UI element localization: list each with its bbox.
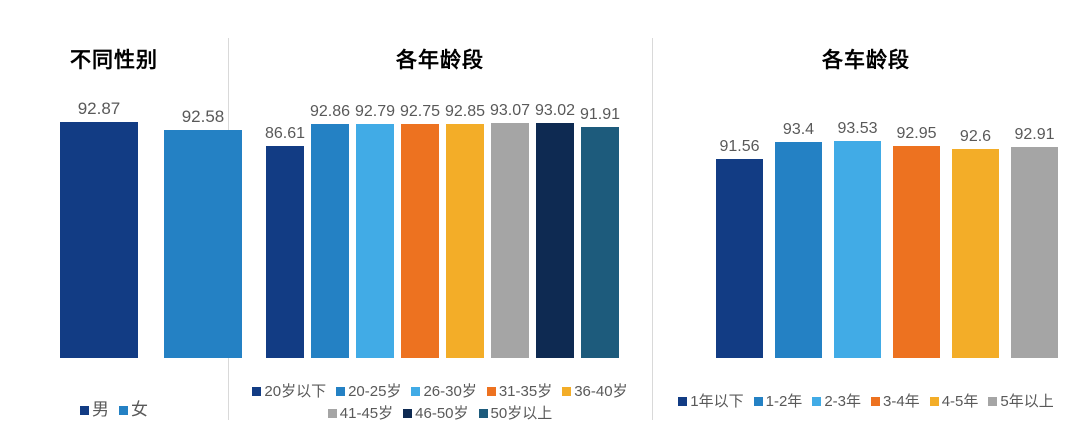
legend-item-age-4[interactable]: 36-40岁 (562, 381, 627, 402)
legend-swatch-icon (252, 387, 261, 396)
bar-age-4[interactable] (446, 124, 484, 358)
legend-label: 1-2年 (766, 391, 803, 412)
legend-item-carage-3[interactable]: 3-4年 (871, 391, 920, 412)
legend-label: 5年以上 (1000, 391, 1053, 412)
bar-carage-5[interactable] (1011, 147, 1058, 358)
legend-carage: 1年以下1-2年2-3年3-4年4-5年5年以上 (652, 390, 1080, 412)
bar-age-0[interactable] (266, 146, 304, 358)
legend-label: 31-35岁 (499, 381, 552, 402)
legend-label: 2-3年 (824, 391, 861, 412)
bar-gender-0[interactable] (60, 122, 138, 358)
legend-item-age-3[interactable]: 31-35岁 (487, 381, 552, 402)
bar-value-label-age-7: 91.91 (571, 106, 629, 124)
legend-swatch-icon (871, 397, 880, 406)
legend-label: 女 (131, 399, 148, 420)
bar-value-label-age-0: 86.61 (256, 125, 314, 143)
legend-label: 3-4年 (883, 391, 920, 412)
bar-value-label-carage-4: 92.6 (942, 128, 1009, 146)
bar-age-5[interactable] (491, 123, 529, 358)
plot-area-age: 86.6192.8692.7992.7592.8593.0793.0291.91 (228, 0, 652, 434)
bar-value-label-carage-0: 91.56 (706, 138, 773, 156)
chart-panel-gender: 不同性别 92.8792.58 男女 (0, 0, 228, 434)
chart-panel-age: 各年龄段 86.6192.8692.7992.7592.8593.0793.02… (228, 0, 652, 434)
legend-item-carage-5[interactable]: 5年以上 (988, 391, 1053, 412)
legend-item-carage-0[interactable]: 1年以下 (678, 391, 743, 412)
legend-swatch-icon (930, 397, 939, 406)
bar-age-3[interactable] (401, 124, 439, 358)
legend-item-carage-1[interactable]: 1-2年 (754, 391, 803, 412)
legend-swatch-icon (479, 409, 488, 418)
plot-area-carage: 91.5693.493.5392.9592.692.91 (652, 0, 1080, 434)
chart-panel-carage: 各车龄段 91.5693.493.5392.9592.692.91 1年以下1-… (652, 0, 1080, 434)
legend-item-gender-1[interactable]: 女 (119, 399, 148, 420)
legend-swatch-icon (754, 397, 763, 406)
legend-item-gender-0[interactable]: 男 (80, 399, 109, 420)
legend-swatch-icon (562, 387, 571, 396)
legend-label: 46-50岁 (415, 403, 468, 424)
legend-swatch-icon (403, 409, 412, 418)
legend-swatch-icon (336, 387, 345, 396)
legend-swatch-icon (988, 397, 997, 406)
legend-swatch-icon (80, 406, 89, 415)
legend-label: 36-40岁 (574, 381, 627, 402)
legend-item-age-2[interactable]: 26-30岁 (411, 381, 476, 402)
bar-age-1[interactable] (311, 124, 349, 358)
legend-item-age-5[interactable]: 41-45岁 (328, 403, 393, 424)
bar-age-6[interactable] (536, 123, 574, 358)
legend-item-age-0[interactable]: 20岁以下 (252, 381, 326, 402)
legend-item-carage-4[interactable]: 4-5年 (930, 391, 979, 412)
legend-item-carage-2[interactable]: 2-3年 (812, 391, 861, 412)
legend-swatch-icon (328, 409, 337, 418)
legend-item-age-1[interactable]: 20-25岁 (336, 381, 401, 402)
legend-label: 41-45岁 (340, 403, 393, 424)
bar-value-label-gender-0: 92.87 (50, 99, 148, 119)
legend-label: 26-30岁 (423, 381, 476, 402)
legend-label: 50岁以上 (491, 403, 553, 424)
legend-item-age-6[interactable]: 46-50岁 (403, 403, 468, 424)
bar-value-label-carage-2: 93.53 (824, 120, 891, 138)
bar-carage-1[interactable] (775, 142, 822, 358)
bar-carage-0[interactable] (716, 159, 763, 358)
legend-label: 1年以下 (690, 391, 743, 412)
bar-carage-2[interactable] (834, 141, 881, 358)
legend-swatch-icon (812, 397, 821, 406)
legend-swatch-icon (487, 387, 496, 396)
chart-canvas: 不同性别 92.8792.58 男女 各年龄段 86.6192.8692.799… (0, 0, 1080, 434)
legend-swatch-icon (678, 397, 687, 406)
legend-gender: 男女 (0, 398, 228, 420)
legend-swatch-icon (411, 387, 420, 396)
legend-age: 20岁以下20-25岁26-30岁31-35岁36-40岁41-45岁46-50… (228, 381, 652, 424)
bar-carage-4[interactable] (952, 149, 999, 358)
plot-area-gender: 92.8792.58 (0, 0, 228, 434)
legend-label: 20岁以下 (264, 381, 326, 402)
legend-label: 4-5年 (942, 391, 979, 412)
bar-value-label-carage-3: 92.95 (883, 125, 950, 143)
legend-swatch-icon (119, 406, 128, 415)
bar-value-label-carage-1: 93.4 (765, 121, 832, 139)
bar-carage-3[interactable] (893, 146, 940, 358)
bar-age-7[interactable] (581, 127, 619, 358)
legend-item-age-7[interactable]: 50岁以上 (479, 403, 553, 424)
legend-label: 男 (92, 399, 109, 420)
legend-label: 20-25岁 (348, 381, 401, 402)
bar-value-label-carage-5: 92.91 (1001, 126, 1068, 144)
bar-age-2[interactable] (356, 124, 394, 358)
